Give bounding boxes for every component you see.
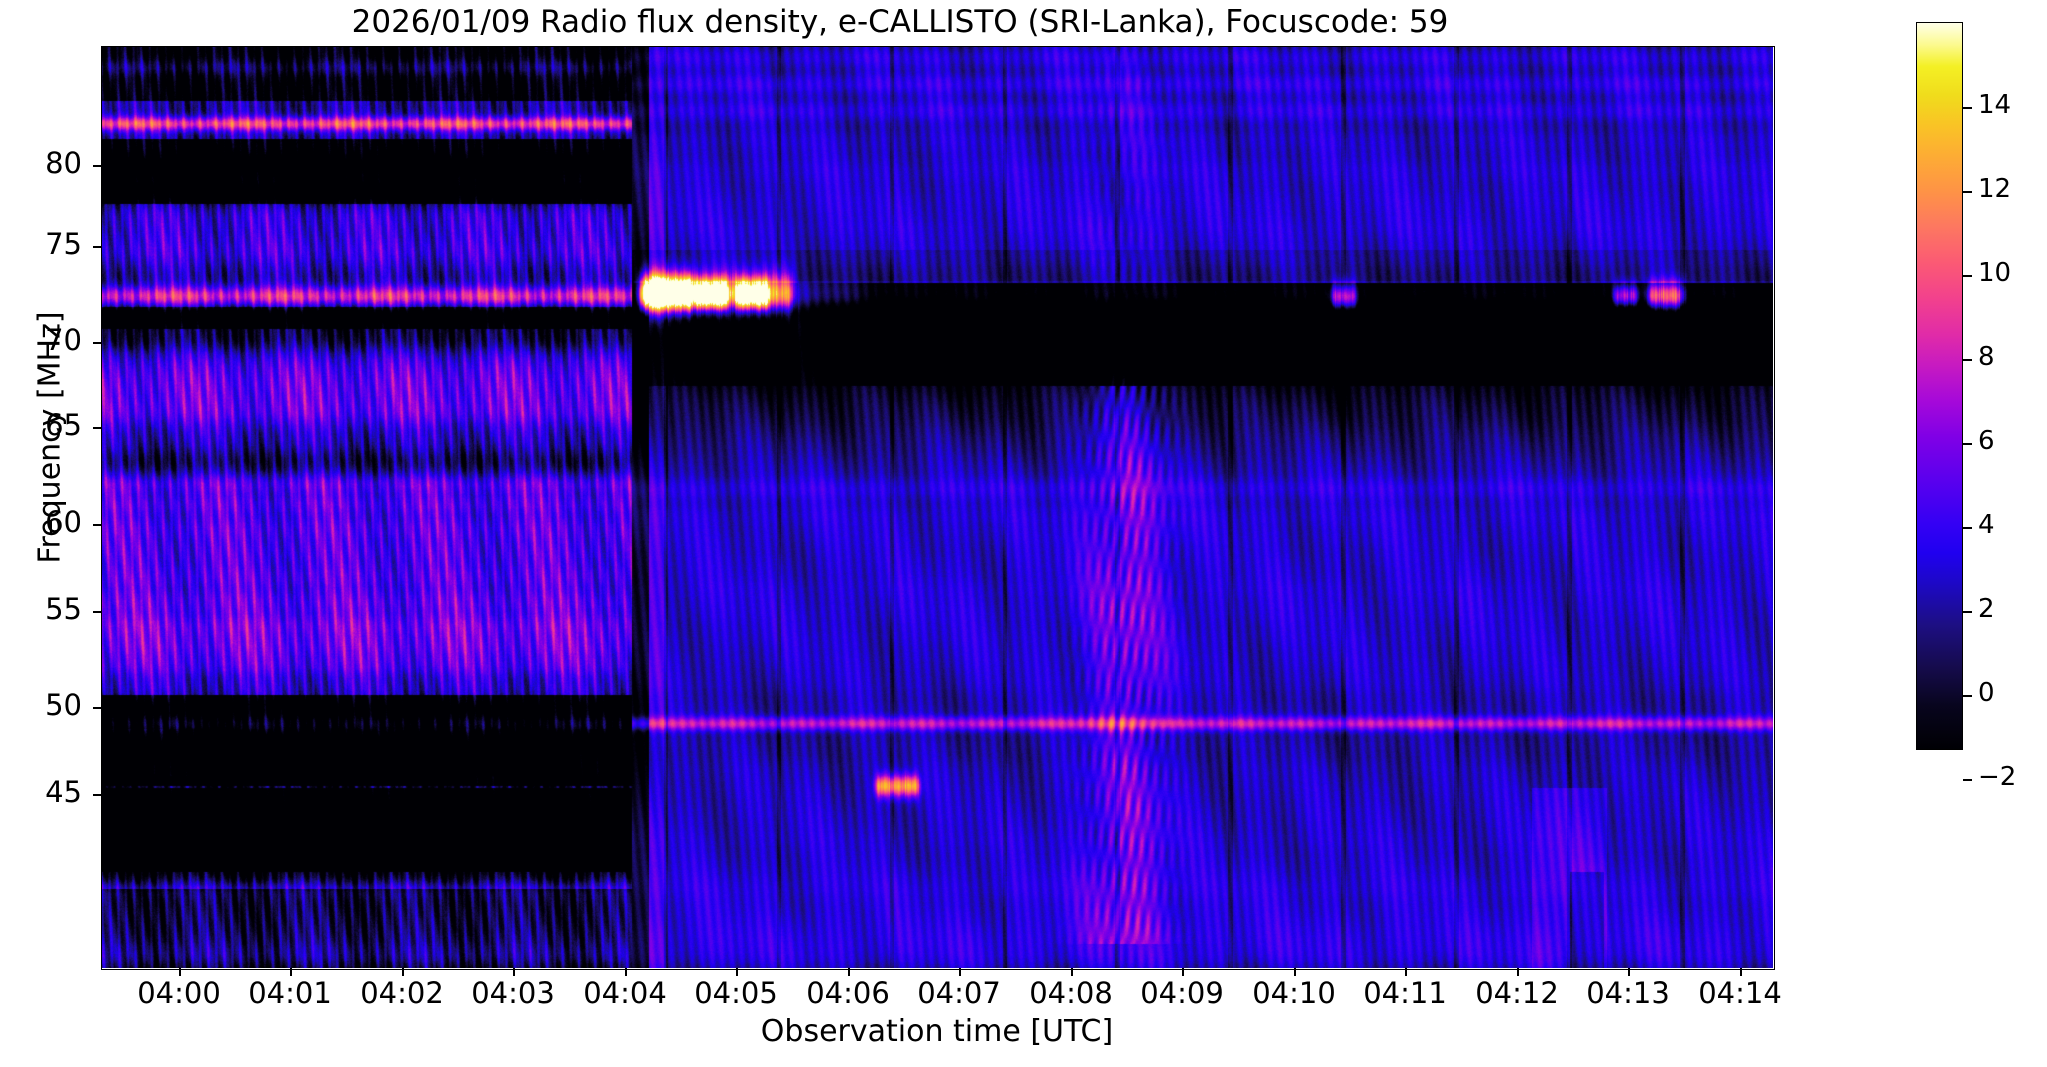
x-tick-mark: [179, 968, 181, 976]
x-tick-mark: [848, 968, 850, 976]
colorbar-tick-mark: [1963, 359, 1972, 361]
colorbar-tick-label: 8: [1978, 342, 1995, 372]
chart-title: 2026/01/09 Radio flux density, e-CALLIST…: [0, 4, 1800, 40]
x-tick-mark: [625, 968, 627, 976]
x-tick-mark: [1405, 968, 1407, 976]
x-tick-mark: [513, 968, 515, 976]
y-tick-label: 80: [12, 146, 82, 180]
figure-canvas: 2026/01/09 Radio flux density, e-CALLIST…: [0, 0, 2047, 1067]
x-tick-mark: [1628, 968, 1630, 976]
colorbar-tick-mark: [1963, 443, 1972, 445]
x-axis-label: Observation time [UTC]: [101, 1014, 1773, 1049]
colorbar-tick-mark: [1963, 275, 1972, 277]
spectrogram-plot-area: [101, 46, 1773, 968]
y-tick-mark: [93, 427, 101, 429]
x-tick-mark: [1182, 968, 1184, 976]
x-tick-mark: [1294, 968, 1296, 976]
x-tick-label: 04:14: [1660, 976, 1820, 1010]
colorbar-tick-label: 6: [1978, 426, 1995, 456]
colorbar-tick-mark: [1963, 107, 1972, 109]
y-tick-label: 45: [12, 775, 82, 809]
y-tick-mark: [93, 794, 101, 796]
x-tick-mark: [1740, 968, 1742, 976]
colorbar-gradient: [1916, 22, 1963, 750]
colorbar-tick-label: 2: [1978, 594, 1995, 624]
y-tick-label: 50: [12, 688, 82, 722]
x-tick-mark: [1071, 968, 1073, 976]
colorbar-tick-label: 0: [1978, 678, 1995, 708]
x-tick-mark: [959, 968, 961, 976]
colorbar-tick-mark: [1963, 695, 1972, 697]
colorbar-tick-mark: [1963, 527, 1972, 529]
y-tick-mark: [93, 611, 101, 613]
y-tick-mark: [93, 524, 101, 526]
y-tick-mark: [93, 246, 101, 248]
colorbar-tick-label: 12: [1978, 174, 2011, 204]
spectrogram-image: [101, 46, 1773, 968]
colorbar-tick-mark: [1963, 191, 1972, 193]
colorbar-tick-label: 10: [1978, 258, 2011, 288]
x-tick-mark: [736, 968, 738, 976]
x-tick-mark: [402, 968, 404, 976]
y-axis-label: Frequency [MHz]: [33, 228, 68, 648]
colorbar-tick-label: 4: [1978, 510, 1995, 540]
x-tick-mark: [290, 968, 292, 976]
y-tick-mark: [93, 707, 101, 709]
colorbar-tick-label: 14: [1978, 90, 2011, 120]
x-tick-mark: [1517, 968, 1519, 976]
y-tick-mark: [93, 342, 101, 344]
colorbar-tick-mark: [1963, 779, 1972, 781]
colorbar-tick-mark: [1963, 611, 1972, 613]
colorbar-tick-label: −2: [1978, 762, 2016, 792]
y-tick-mark: [93, 165, 101, 167]
